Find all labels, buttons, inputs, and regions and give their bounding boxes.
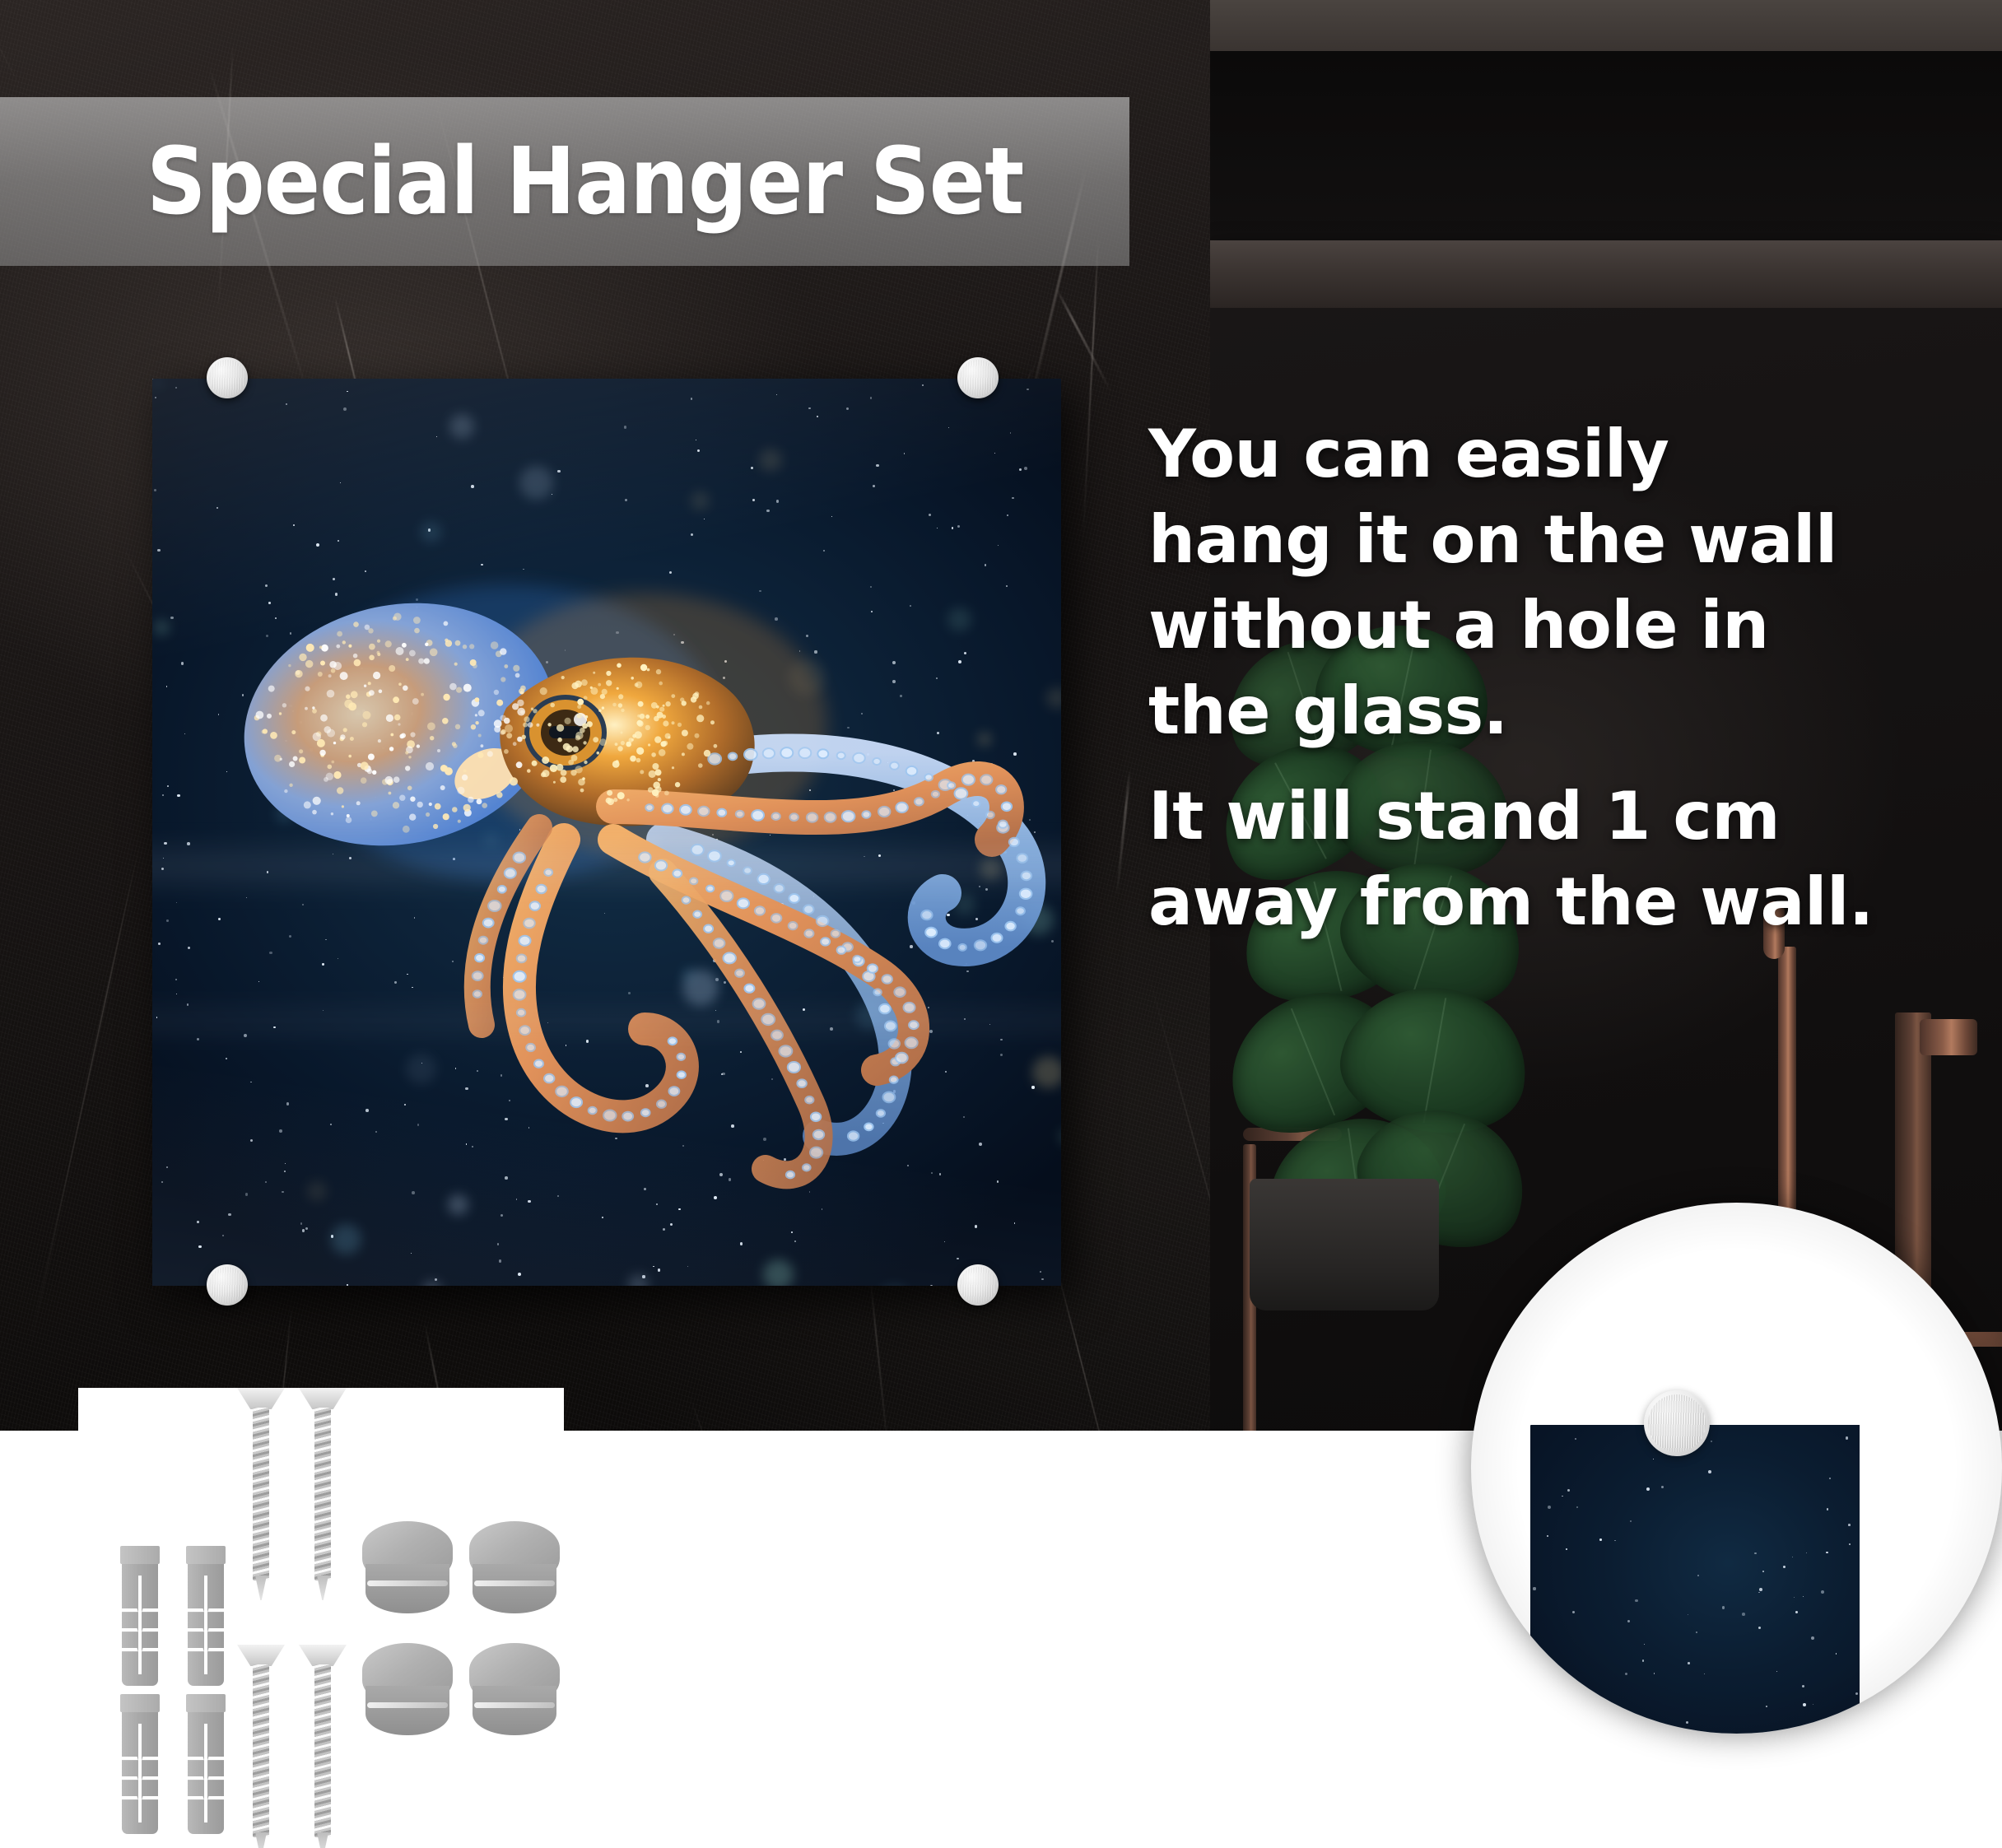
standoff-cap-hardware (362, 1643, 453, 1740)
detail-zoom-inset (1471, 1203, 2002, 1734)
mounting-screw (245, 1388, 277, 1600)
wall-plug (122, 1694, 158, 1834)
promo-line-2: hang it on the wall (1148, 497, 1980, 583)
standoff-cap-bottom-left (207, 1264, 248, 1306)
promo-line-5: It will stand 1 cm (1148, 774, 1980, 859)
standoff-cap-hardware (469, 1521, 560, 1618)
octopus-illustration (152, 379, 1061, 1286)
ceiling-recess (1210, 51, 2002, 240)
inset-artwork-corner (1530, 1425, 1860, 1734)
standoff-cap-top-left (207, 357, 248, 398)
standoff-cap-top-right (957, 357, 999, 398)
glass-reflection-band (152, 840, 1061, 892)
promo-line-4: the glass. (1148, 668, 1980, 754)
mounting-screw (245, 1645, 277, 1848)
glass-art-panel (152, 379, 1061, 1286)
artwork-surface (152, 379, 1061, 1286)
ceiling-slab (1210, 0, 2002, 51)
inset-standoff-cap (1644, 1390, 1710, 1456)
copper-spout-head (1920, 1019, 1977, 1055)
standoff-cap-hardware (469, 1643, 560, 1740)
title-banner: Special Hanger Set (0, 97, 1129, 266)
inset-starfield (1530, 1425, 1860, 1734)
promo-line-1: You can easily (1148, 412, 1980, 497)
plant-pot (1250, 1179, 1439, 1310)
standoff-cap-bottom-right (957, 1264, 999, 1306)
promo-line-6: away from the wall. (1148, 859, 1980, 945)
mounting-screw (307, 1388, 338, 1600)
wall-plug (188, 1546, 224, 1686)
mounting-screw (307, 1645, 338, 1848)
product-marketing-image: Special Hanger Set (0, 0, 2002, 1848)
wall-shelf (1210, 240, 2002, 308)
glass-reflection-band-2 (152, 1004, 1061, 1037)
page-title: Special Hanger Set (147, 128, 1023, 235)
wall-plug (188, 1694, 224, 1834)
wall-plug (122, 1546, 158, 1686)
promo-line-3: without a hole in (1148, 583, 1980, 668)
promo-text-block: You can easily hang it on the wall witho… (1148, 412, 1980, 945)
standoff-cap-hardware (362, 1521, 453, 1618)
